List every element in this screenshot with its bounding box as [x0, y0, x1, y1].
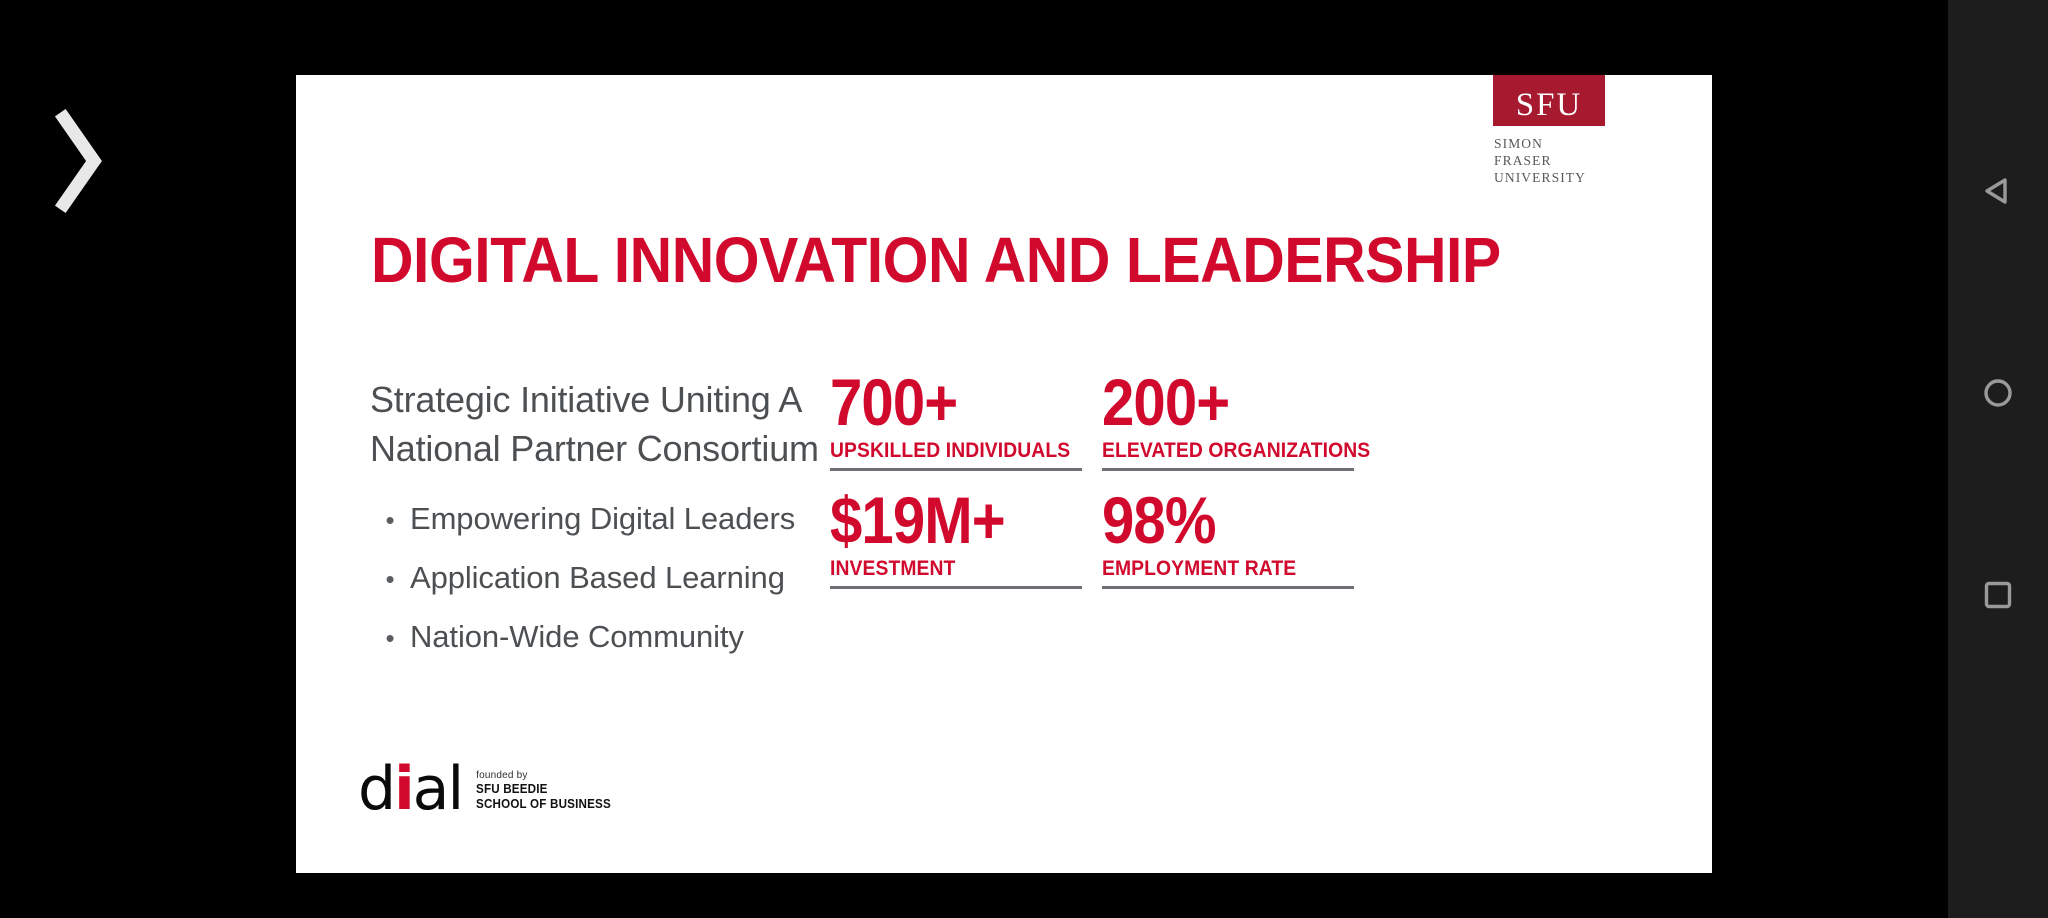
- nav-back-button[interactable]: [1948, 158, 2048, 228]
- sfu-wordmark-line1: SIMON FRASER: [1494, 135, 1605, 169]
- dial-wordmark-al: al: [413, 754, 462, 824]
- stat-block: 98% EMPLOYMENT RATE: [1102, 483, 1354, 589]
- triangle-left-icon: [1978, 171, 2018, 216]
- dial-wordmark-i: i: [394, 754, 413, 824]
- stat-label: INVESTMENT: [830, 557, 1062, 581]
- next-slide-button[interactable]: [48, 108, 108, 214]
- stat-block: 700+ UPSKILLED INDIVIDUALS: [830, 365, 1082, 471]
- nav-recents-button[interactable]: [1948, 562, 2048, 632]
- nav-home-button[interactable]: [1948, 360, 2048, 430]
- stat-underline: [1102, 586, 1354, 589]
- slide-title: DIGITAL INNOVATION AND LEADERSHIP: [371, 223, 1501, 297]
- circle-icon: [1978, 373, 2018, 418]
- dial-wordmark-d: d: [358, 754, 394, 824]
- sfu-logo: SFU SIMON FRASER UNIVERSITY: [1493, 75, 1605, 186]
- list-item: • Nation-Wide Community: [370, 619, 930, 655]
- dial-wordmark: dial: [358, 763, 462, 815]
- founded-by-label: founded by: [476, 769, 621, 782]
- bullet-dot-icon: •: [370, 566, 410, 592]
- stat-underline: [830, 468, 1082, 471]
- stat-value: 98%: [1102, 483, 1324, 557]
- founded-by-org-line1: SFU BEEDIE: [476, 782, 611, 797]
- sfu-wordmark: SIMON FRASER UNIVERSITY: [1493, 135, 1605, 186]
- dial-logo: dial founded by SFU BEEDIE SCHOOL OF BUS…: [358, 763, 621, 815]
- stat-label: EMPLOYMENT RATE: [1102, 557, 1334, 581]
- sfu-mark: SFU: [1493, 75, 1605, 126]
- bullet-dot-icon: •: [370, 625, 410, 651]
- bullet-label: Nation-Wide Community: [410, 619, 744, 655]
- statistics-grid: 700+ UPSKILLED INDIVIDUALS 200+ ELEVATED…: [830, 365, 1640, 589]
- stat-label: UPSKILLED INDIVIDUALS: [830, 439, 1062, 463]
- stat-block: 200+ ELEVATED ORGANIZATIONS: [1102, 365, 1354, 471]
- slide-canvas[interactable]: SFU SIMON FRASER UNIVERSITY DIGITAL INNO…: [296, 75, 1712, 873]
- sfu-wordmark-line2: UNIVERSITY: [1494, 169, 1605, 186]
- presentation-viewer: SFU SIMON FRASER UNIVERSITY DIGITAL INNO…: [0, 0, 2048, 918]
- stat-value: $19M+: [830, 483, 1052, 557]
- bullet-label: Application Based Learning: [410, 560, 785, 596]
- founded-by-org-line2: SCHOOL OF BUSINESS: [476, 797, 611, 812]
- bullet-label: Empowering Digital Leaders: [410, 501, 795, 537]
- bullet-dot-icon: •: [370, 507, 410, 533]
- stat-value: 700+: [830, 365, 1052, 439]
- dial-founded-by-block: founded by SFU BEEDIE SCHOOL OF BUSINESS: [476, 769, 621, 812]
- stat-underline: [830, 586, 1082, 589]
- android-navigation-bar: [1948, 0, 2048, 918]
- stat-underline: [1102, 468, 1354, 471]
- stat-label: ELEVATED ORGANIZATIONS: [1102, 439, 1334, 463]
- square-icon: [1978, 575, 2018, 620]
- stat-value: 200+: [1102, 365, 1324, 439]
- chevron-right-icon: [48, 108, 108, 214]
- stat-block: $19M+ INVESTMENT: [830, 483, 1082, 589]
